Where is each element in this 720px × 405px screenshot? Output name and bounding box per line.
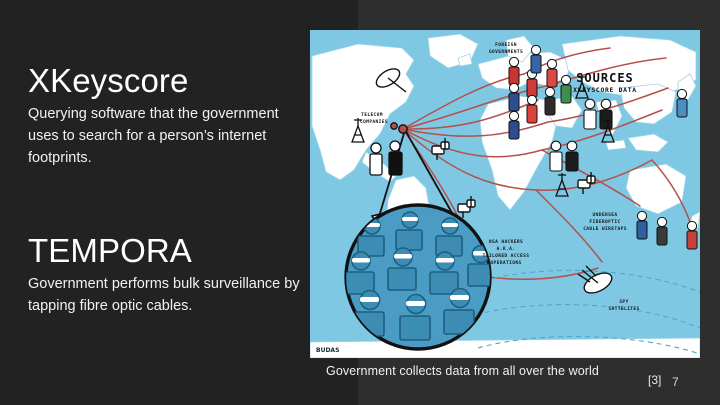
map-label: TAILORED ACCESS xyxy=(483,253,530,259)
map-label: COMPANIES xyxy=(360,119,388,125)
map-label: SPY xyxy=(619,299,628,305)
section-body-xkeyscore: Querying software that the government us… xyxy=(28,104,306,169)
page-number: 7 xyxy=(672,375,679,389)
map-canvas: FOREIGNGOVERNMENTSTELECOMCOMPANIESNSA HA… xyxy=(310,30,700,358)
map-label: A.K.A. xyxy=(497,246,516,252)
map-label: GOVERNMENTS xyxy=(489,49,523,55)
text-column: XKeyscore Querying software that the gov… xyxy=(28,64,306,317)
map-label: NSA HACKERS xyxy=(489,239,523,245)
map-label: SATTELITES xyxy=(608,306,639,312)
figure-title-line1: SOURCES xyxy=(576,71,634,85)
figure-title-line2: XKEYSCORE DATA xyxy=(573,86,637,94)
figure-world-surveillance-map: FOREIGNGOVERNMENTSTELECOMCOMPANIESNSA HA… xyxy=(310,30,700,358)
map-label: FOREIGN xyxy=(495,42,517,48)
map-label: FIBEROPTIC xyxy=(589,219,620,225)
figure-caption: Government collects data from all over t… xyxy=(326,364,666,378)
section-heading-xkeyscore: XKeyscore xyxy=(28,64,306,98)
map-label: UNDERSEA xyxy=(593,212,618,218)
figure-title-block: SOURCES XKEYSCORE DATA xyxy=(573,71,637,94)
artist-signature: BUDAS xyxy=(316,347,339,354)
map-label: OPERATIONS xyxy=(490,260,521,266)
map-label: TELECOM xyxy=(361,112,383,118)
section-block-tempora: TEMPORA Government performs bulk surveil… xyxy=(28,234,306,318)
map-label: CABLE WIRETAPS xyxy=(583,226,627,232)
citation-marker: [3] xyxy=(648,373,661,387)
section-heading-tempora: TEMPORA xyxy=(28,234,306,268)
slide-root: XKeyscore Querying software that the gov… xyxy=(0,0,720,405)
section-body-tempora: Government performs bulk surveillance by… xyxy=(28,274,306,318)
